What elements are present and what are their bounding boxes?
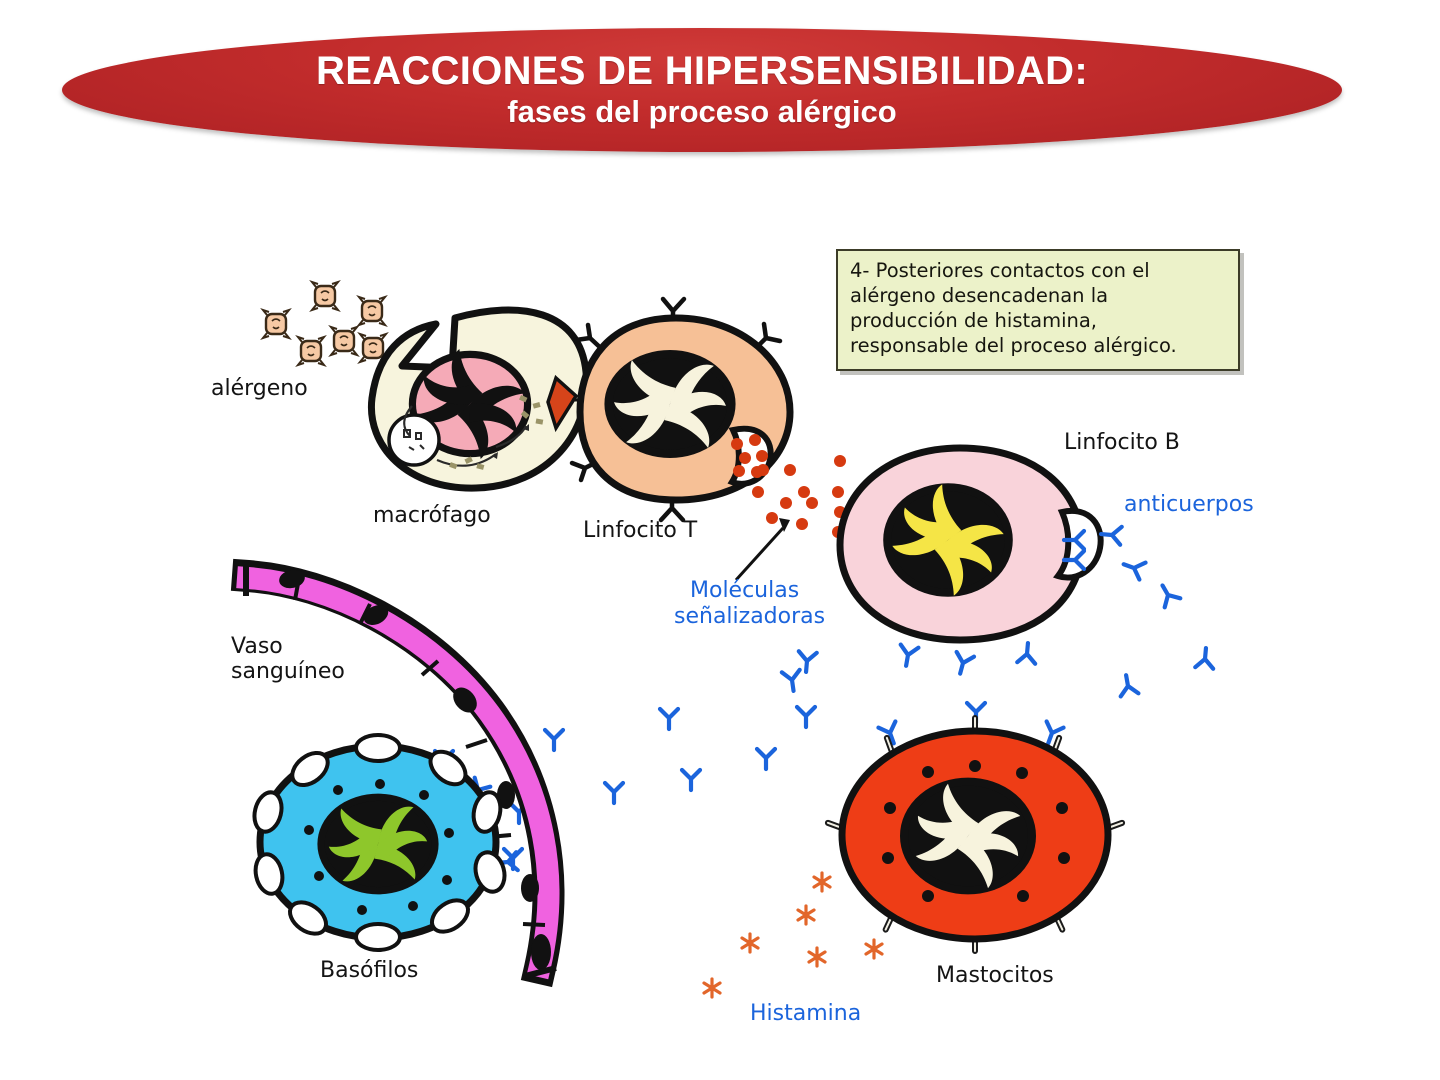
- label-signaling-line-1: Moléculas: [690, 578, 799, 604]
- diagram-artwork: [0, 0, 1440, 1080]
- label-allergen: alérgeno: [211, 376, 308, 402]
- b-lymphocyte-cell: [840, 448, 1101, 640]
- label-histamine: Histamina: [750, 1001, 861, 1027]
- histamine-molecules: [704, 873, 882, 997]
- signaling-pointer-arrow: [736, 518, 790, 580]
- label-macrophage: macrófago: [373, 503, 491, 529]
- antibodies-in-pore: [1064, 531, 1084, 569]
- callout-line-1: 4- Posteriores contactos con el: [850, 259, 1228, 284]
- t-lymphocyte-cell: [572, 299, 790, 520]
- basophil-cell: [251, 735, 518, 950]
- signaling-molecules: [752, 455, 846, 538]
- callout-line-4: responsable del proceso alérgico.: [850, 334, 1228, 359]
- label-signaling-line-2: señalizadoras: [674, 604, 825, 630]
- label-t-lymphocyte: Linfocito T: [583, 518, 697, 544]
- mast-cell-receptors: [825, 718, 1125, 951]
- label-vessel-line-2: sanguíneo: [231, 659, 345, 685]
- callout-box-step-4: 4- Posteriores contactos con el alérgeno…: [836, 249, 1240, 371]
- label-antibodies: anticuerpos: [1124, 492, 1254, 518]
- callout-line-3: producción de histamina,: [850, 309, 1228, 334]
- label-b-lymphocyte: Linfocito B: [1064, 430, 1180, 456]
- basophil-surface-antibodies: [403, 763, 518, 872]
- title-banner: REACCIONES DE HIPERSENSIBILIDAD: fases d…: [62, 28, 1342, 152]
- label-vessel-line-1: Vaso: [231, 634, 283, 660]
- title-line-1: REACCIONES DE HIPERSENSIBILIDAD:: [316, 50, 1088, 92]
- allergen-particles: [263, 282, 386, 365]
- title-line-2: fases del proceso alérgico: [507, 94, 896, 130]
- mast-cell: [825, 703, 1125, 951]
- label-mast-cells: Mastocitos: [936, 963, 1054, 989]
- slide-canvas: REACCIONES DE HIPERSENSIBILIDAD: fases d…: [0, 0, 1440, 1080]
- callout-line-2: alérgeno desencadenan la: [850, 284, 1228, 309]
- blood-vessel: [246, 566, 556, 976]
- bound-antibodies: [878, 703, 1063, 746]
- antibody-field: [401, 525, 1215, 869]
- macrophage-cell: [371, 310, 598, 488]
- label-basophils: Basófilos: [320, 958, 418, 984]
